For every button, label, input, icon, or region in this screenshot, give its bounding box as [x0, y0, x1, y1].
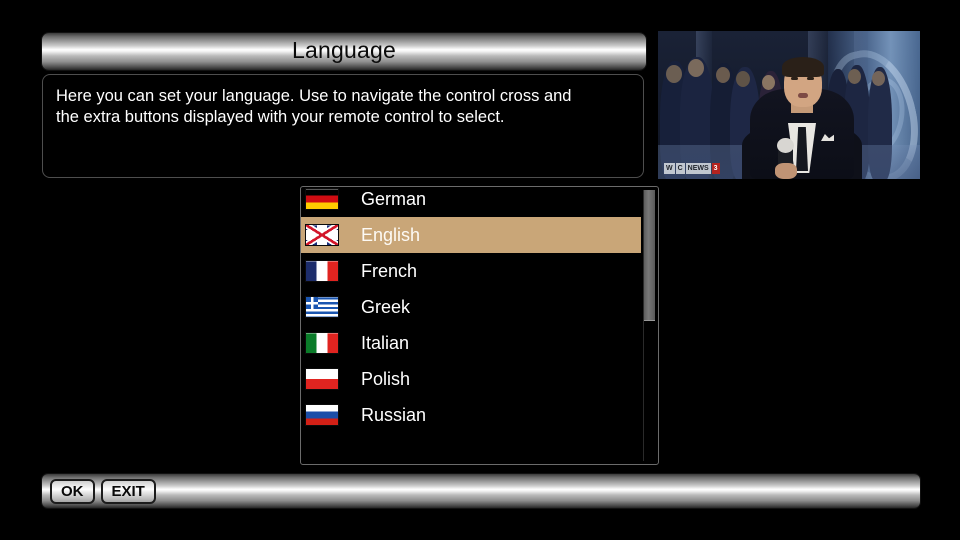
language-label: Greek: [361, 298, 410, 316]
tv-settings-screen: Language Here you can set your language.…: [0, 0, 960, 540]
ok-button-label: OK: [61, 484, 84, 499]
flag-italy-icon: [305, 332, 339, 354]
video-crowd-head: [736, 71, 750, 87]
language-list-viewport: German English French Greek Italian: [301, 187, 642, 464]
title-bar: Language: [42, 33, 646, 70]
flag-russia-icon: [305, 404, 339, 426]
language-label: Polish: [361, 370, 410, 388]
scrollbar-track[interactable]: [643, 190, 655, 461]
page-title: Language: [292, 39, 396, 64]
video-reporter-mouth: [798, 93, 808, 98]
video-crowd-head: [848, 69, 861, 84]
language-item-russian[interactable]: Russian: [301, 397, 642, 433]
language-item-french[interactable]: French: [301, 253, 642, 289]
video-reporter-eye: [807, 77, 814, 80]
language-label: Italian: [361, 334, 409, 352]
exit-button[interactable]: EXIT: [101, 479, 156, 504]
video-crowd-head: [666, 65, 682, 83]
help-text: Here you can set your language. Use to n…: [56, 86, 630, 129]
logo-cell: NEWS: [686, 163, 711, 174]
video-reporter-eye: [791, 77, 798, 80]
video-crowd-head: [716, 67, 730, 83]
language-label: Russian: [361, 406, 426, 424]
video-reporter-hand: [775, 163, 797, 179]
scrollbar-thumb[interactable]: [644, 190, 655, 321]
logo-cell: 3: [712, 163, 720, 174]
language-item-greek[interactable]: Greek: [301, 289, 642, 325]
flag-poland-icon: [305, 368, 339, 390]
language-item-italian[interactable]: Italian: [301, 325, 642, 361]
language-item-polish[interactable]: Polish: [301, 361, 642, 397]
language-list-panel[interactable]: German English French Greek Italian: [300, 186, 659, 465]
flag-france-icon: [305, 260, 339, 282]
exit-button-label: EXIT: [112, 484, 145, 499]
video-crowd-head: [762, 75, 775, 90]
flag-germany-icon: [305, 188, 339, 210]
broadcaster-logo-bug: W C NEWS 3: [664, 163, 720, 174]
flag-greece-icon: [305, 296, 339, 318]
softkey-bar: OK EXIT: [42, 474, 920, 508]
video-crowd-head: [688, 59, 704, 77]
language-label: French: [361, 262, 417, 280]
language-label: English: [361, 226, 420, 244]
flag-united-kingdom-icon: [305, 224, 339, 246]
language-item-german[interactable]: German: [301, 187, 642, 217]
video-reporter-hair: [782, 57, 824, 77]
language-item-english[interactable]: English: [301, 217, 641, 253]
logo-cell: W: [664, 163, 675, 174]
logo-cell: C: [676, 163, 685, 174]
video-crowd-head: [872, 71, 885, 86]
language-list: German English French Greek Italian: [301, 187, 642, 433]
language-label: German: [361, 190, 426, 208]
help-panel: Here you can set your language. Use to n…: [42, 74, 644, 178]
video-preview[interactable]: W C NEWS 3: [658, 31, 920, 179]
ok-button[interactable]: OK: [50, 479, 95, 504]
video-microphone-head: [777, 138, 794, 153]
